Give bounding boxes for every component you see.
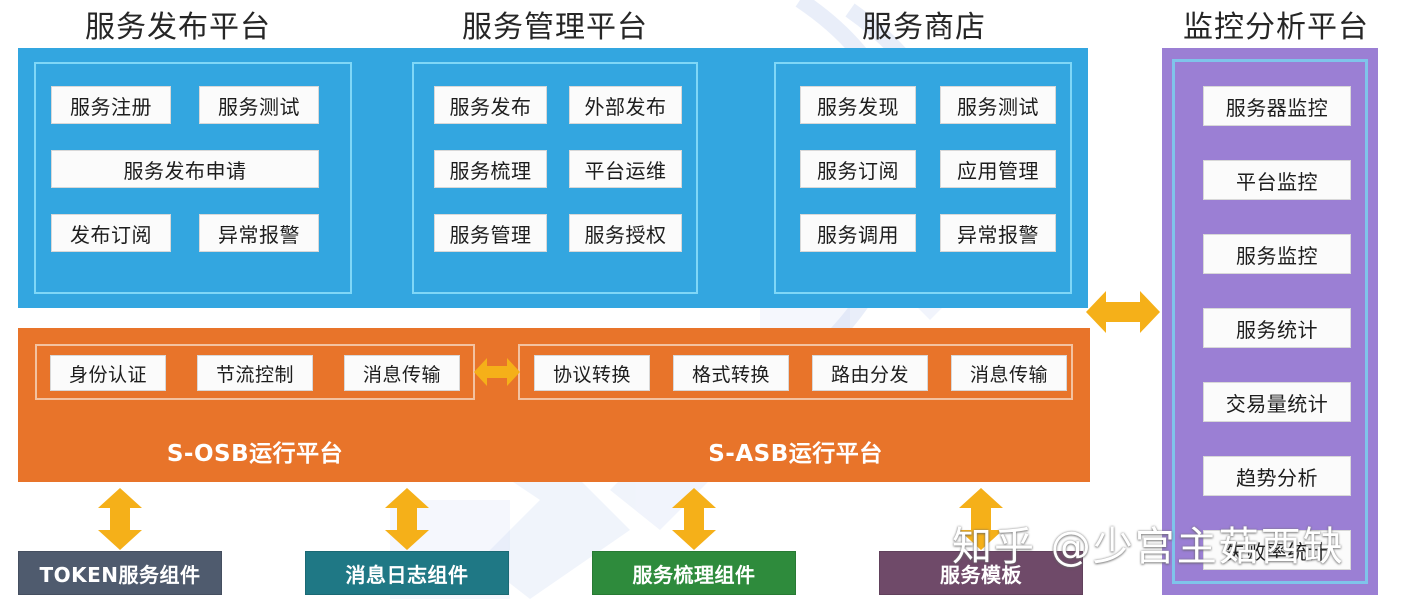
- chip-osb-2[interactable]: 消息传输: [344, 355, 460, 391]
- chip-publish-3[interactable]: 发布订阅: [51, 214, 171, 252]
- component-link-arrow-3: [957, 488, 1005, 550]
- component-bar-message-log[interactable]: 消息日志组件: [305, 551, 509, 595]
- chip-monitor-4[interactable]: 交易量统计: [1203, 382, 1351, 422]
- group-s-osb: 身份认证 节流控制 消息传输: [35, 344, 475, 400]
- chip-monitor-0[interactable]: 服务器监控: [1203, 86, 1351, 126]
- group-service-store: 服务发现 服务测试 服务订阅 应用管理 服务调用 异常报警: [774, 62, 1072, 294]
- group-monitor-inner: 服务器监控 平台监控 服务监控 服务统计 交易量统计 趋势分析 失败率统计: [1172, 59, 1368, 584]
- chip-manage-4[interactable]: 服务管理: [434, 214, 547, 252]
- component-link-arrow-1: [383, 488, 431, 550]
- chip-manage-3[interactable]: 平台运维: [569, 150, 682, 188]
- chip-manage-0[interactable]: 服务发布: [434, 86, 547, 124]
- chip-manage-1[interactable]: 外部发布: [569, 86, 682, 124]
- bus-orange-panel: 身份认证 节流控制 消息传输 协议转换 格式转换 路由分发 消息传输 S-OSB…: [18, 328, 1090, 482]
- chip-osb-0[interactable]: 身份认证: [50, 355, 166, 391]
- component-bar-service-template[interactable]: 服务模板: [879, 551, 1083, 595]
- chip-monitor-3[interactable]: 服务统计: [1203, 308, 1351, 348]
- chip-store-4[interactable]: 服务调用: [800, 214, 916, 252]
- platform-monitor-bidirectional-arrow: [1086, 287, 1160, 337]
- monitor-purple-panel: 服务器监控 平台监控 服务监控 服务统计 交易量统计 趋势分析 失败率统计: [1162, 48, 1378, 595]
- diagram-canvas: 服务发布平台 服务管理平台 服务商店 监控分析平台 服务注册 服务测试 服务发布…: [0, 0, 1407, 599]
- chip-publish-1[interactable]: 服务测试: [199, 86, 319, 124]
- label-s-asb: S-ASB运行平台: [518, 434, 1073, 468]
- chip-asb-3[interactable]: 消息传输: [951, 355, 1067, 391]
- column-title-manage: 服务管理平台: [412, 2, 698, 46]
- group-manage-platform: 服务发布 外部发布 服务梳理 平台运维 服务管理 服务授权: [412, 62, 698, 294]
- chip-osb-1[interactable]: 节流控制: [197, 355, 313, 391]
- component-bar-token[interactable]: TOKEN服务组件: [18, 551, 222, 595]
- chip-publish-2[interactable]: 服务发布申请: [51, 150, 319, 188]
- chip-manage-5[interactable]: 服务授权: [569, 214, 682, 252]
- chip-store-0[interactable]: 服务发现: [800, 86, 916, 124]
- chip-store-5[interactable]: 异常报警: [940, 214, 1056, 252]
- column-title-publish: 服务发布平台: [18, 2, 338, 46]
- component-link-arrow-0: [96, 488, 144, 550]
- chip-monitor-1[interactable]: 平台监控: [1203, 160, 1351, 200]
- chip-store-2[interactable]: 服务订阅: [800, 150, 916, 188]
- chip-store-3[interactable]: 应用管理: [940, 150, 1056, 188]
- chip-monitor-5[interactable]: 趋势分析: [1203, 456, 1351, 496]
- column-title-store: 服务商店: [774, 2, 1074, 46]
- label-s-osb: S-OSB运行平台: [35, 434, 475, 468]
- chip-monitor-2[interactable]: 服务监控: [1203, 234, 1351, 274]
- chip-asb-2[interactable]: 路由分发: [812, 355, 928, 391]
- chip-publish-0[interactable]: 服务注册: [51, 86, 171, 124]
- column-title-monitor: 监控分析平台: [1162, 2, 1390, 46]
- chip-asb-1[interactable]: 格式转换: [673, 355, 789, 391]
- chip-monitor-6[interactable]: 失败率统计: [1203, 530, 1351, 570]
- group-s-asb: 协议转换 格式转换 路由分发 消息传输: [518, 344, 1073, 400]
- component-link-arrow-2: [670, 488, 718, 550]
- group-publish-platform: 服务注册 服务测试 服务发布申请 发布订阅 异常报警: [34, 62, 352, 294]
- chip-asb-0[interactable]: 协议转换: [534, 355, 650, 391]
- platform-blue-panel: 服务注册 服务测试 服务发布申请 发布订阅 异常报警 服务发布 外部发布 服务梳…: [18, 48, 1088, 308]
- chip-publish-4[interactable]: 异常报警: [199, 214, 319, 252]
- osb-asb-bidirectional-arrow: [474, 354, 520, 390]
- chip-store-1[interactable]: 服务测试: [940, 86, 1056, 124]
- chip-manage-2[interactable]: 服务梳理: [434, 150, 547, 188]
- component-bar-service-catalog[interactable]: 服务梳理组件: [592, 551, 796, 595]
